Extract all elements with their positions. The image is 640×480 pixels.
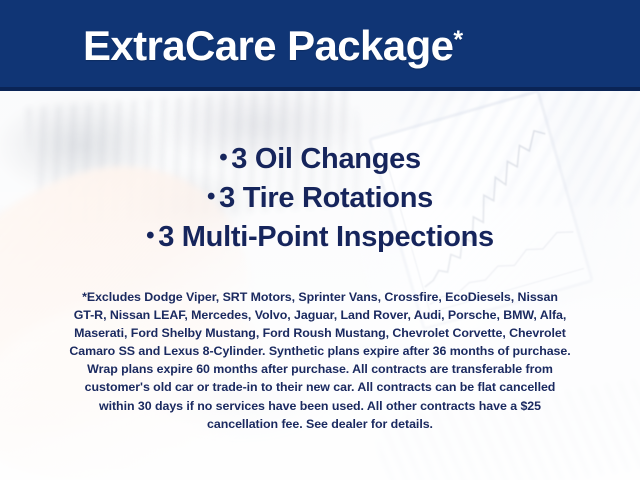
disclaimer-line: within 30 days if no services have been … <box>38 397 602 415</box>
disclaimer-line: Wrap plans expire 60 months after purcha… <box>38 360 602 378</box>
page-title: ExtraCare Package* <box>83 25 463 67</box>
benefit-item-multi-point-inspections: •3 Multi-Point Inspections <box>0 217 640 256</box>
disclaimer-fineprint: *Excludes Dodge Viper, SRT Motors, Sprin… <box>38 288 602 433</box>
benefit-item-label: 3 Multi-Point Inspections <box>158 221 494 253</box>
benefit-item-label: 3 Tire Rotations <box>219 182 433 214</box>
header-band: ExtraCare Package* <box>0 0 640 91</box>
disclaimer-line: *Excludes Dodge Viper, SRT Motors, Sprin… <box>38 288 602 306</box>
benefit-item-label: 3 Oil Changes <box>231 143 421 175</box>
benefits-list: •3 Oil Changes •3 Tire Rotations •3 Mult… <box>0 139 640 256</box>
asterisk-superscript: * <box>453 26 462 54</box>
bullet-dot-icon: • <box>219 144 227 171</box>
disclaimer-line: customer's old car or trade-in to their … <box>38 378 602 396</box>
disclaimer-line: Maserati, Ford Shelby Mustang, Ford Rous… <box>38 324 602 342</box>
benefit-item-tire-rotations: •3 Tire Rotations <box>0 178 640 217</box>
bullet-dot-icon: • <box>146 222 154 249</box>
bullet-dot-icon: • <box>207 183 215 210</box>
extracare-package-banner: ExtraCare Package* •3 Oil Changes •3 Tir… <box>0 0 640 480</box>
disclaimer-line: Camaro SS and Lexus 8-Cylinder. Syntheti… <box>38 342 602 360</box>
disclaimer-line: cancellation fee. See dealer for details… <box>38 415 602 433</box>
page-title-text: ExtraCare Package <box>83 22 453 69</box>
benefit-item-oil-changes: •3 Oil Changes <box>0 139 640 178</box>
disclaimer-line: GT-R, Nissan LEAF, Mercedes, Volvo, Jagu… <box>38 306 602 324</box>
